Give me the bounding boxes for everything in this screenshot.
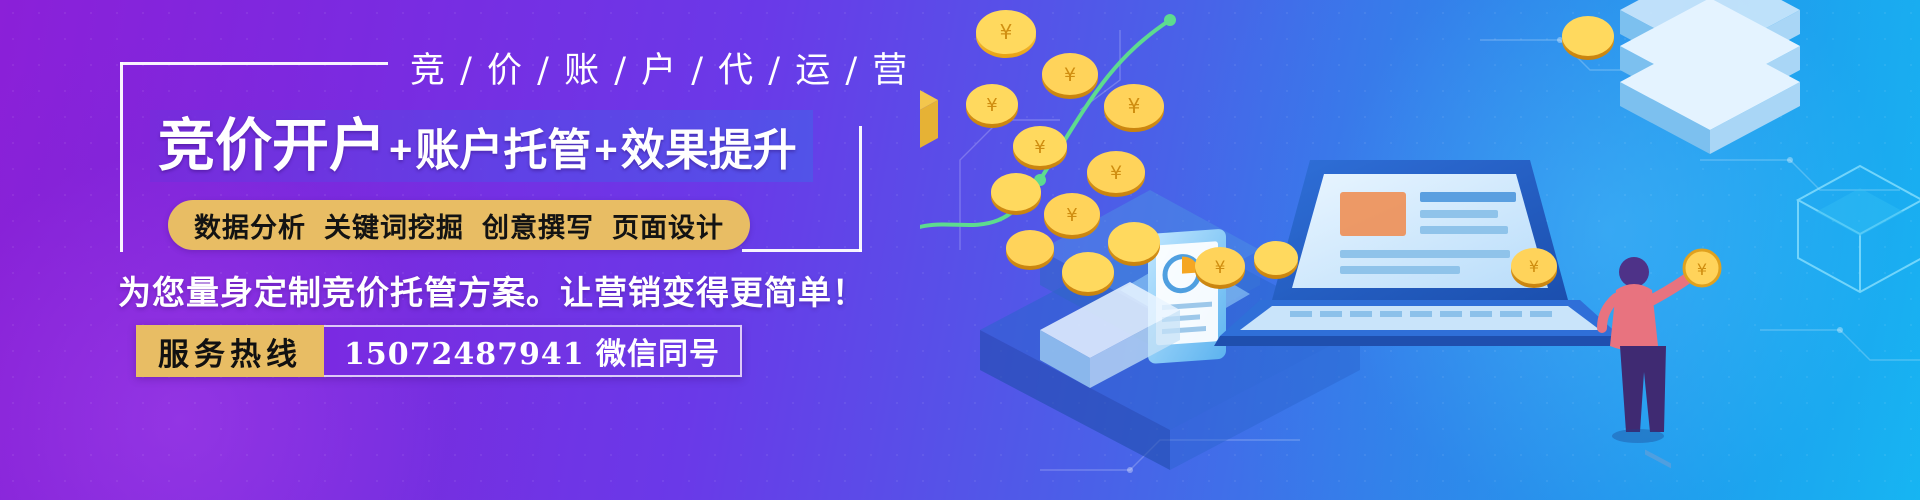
hotline-bar: 服务热线 15072487941 微信同号 <box>136 325 742 377</box>
wireframe-cube-icon <box>1798 166 1920 292</box>
banner-headline: 竞价开户+账户托管+效果提升 <box>158 118 797 175</box>
svg-text:¥: ¥ <box>986 95 997 116</box>
coin <box>1254 241 1298 279</box>
banner-tagline: 竞 / 价 / 账 / 户 / 代 / 运 / 营 <box>410 42 909 93</box>
banner-content: 竞 / 价 / 账 / 户 / 代 / 运 / 营 竞价开户+账户托管+效果提升… <box>0 0 980 500</box>
coin: ¥ <box>1013 126 1067 170</box>
svg-text:¥: ¥ <box>1000 20 1013 44</box>
service-item-1: 关键词挖掘 <box>324 213 464 243</box>
services-list: 数据分析关键词挖掘创意撰写页面设计 <box>194 206 724 245</box>
bracket-top-line <box>120 62 388 65</box>
headline-part3: 效果提升 <box>621 126 797 175</box>
bracket-right-line <box>859 126 862 252</box>
coin <box>991 173 1041 215</box>
svg-text:¥: ¥ <box>1128 94 1141 118</box>
coin: ¥ <box>966 84 1018 128</box>
bracket-bottom-line <box>742 249 862 252</box>
coin <box>1062 252 1114 296</box>
marketing-illustration: ¥ ¥ ¥ ¥ ¥ <box>920 0 1920 500</box>
headline-plus1: + <box>389 128 412 172</box>
coin: ¥ <box>1511 248 1557 288</box>
headline-part2: 账户托管 <box>415 126 591 175</box>
coin: ¥ <box>1195 247 1245 289</box>
service-item-2: 创意撰写 <box>482 213 594 243</box>
banner-subtitle: 为您量身定制竞价托管方案。让营销变得更简单！ <box>118 266 866 314</box>
headline-part1: 竞价开户 <box>158 114 386 178</box>
person-figure: ¥ <box>1602 250 1720 443</box>
coin <box>1562 16 1614 60</box>
coin: ¥ <box>1042 53 1098 99</box>
svg-text:¥: ¥ <box>1034 137 1045 158</box>
svg-text:¥: ¥ <box>1215 258 1226 278</box>
coin <box>1108 222 1160 266</box>
coin: ¥ <box>1087 151 1145 197</box>
svg-text:¥: ¥ <box>1529 257 1539 276</box>
coin: ¥ <box>1104 84 1164 132</box>
service-item-3: 页面设计 <box>612 213 724 243</box>
svg-text:¥: ¥ <box>1064 64 1076 86</box>
service-item-0: 数据分析 <box>194 213 306 243</box>
svg-text:¥: ¥ <box>1066 205 1077 226</box>
hotline-label: 服务热线 <box>136 325 324 377</box>
headline-plus2: + <box>594 128 617 172</box>
promo-banner: 竞 / 价 / 账 / 户 / 代 / 运 / 营 竞价开户+账户托管+效果提升… <box>0 0 1920 500</box>
svg-text:¥: ¥ <box>1110 162 1122 184</box>
services-pill: 数据分析关键词挖掘创意撰写页面设计 <box>168 200 750 250</box>
coin: ¥ <box>1044 193 1100 239</box>
hotline-number[interactable]: 15072487941 微信同号 <box>324 325 742 377</box>
gold-block-decoration <box>920 68 938 170</box>
coin: ¥ <box>976 10 1036 58</box>
svg-text:¥: ¥ <box>1697 260 1707 279</box>
coin <box>1006 230 1054 270</box>
bracket-left-line <box>120 62 123 252</box>
headline-container: 竞价开户+账户托管+效果提升 <box>150 110 813 182</box>
